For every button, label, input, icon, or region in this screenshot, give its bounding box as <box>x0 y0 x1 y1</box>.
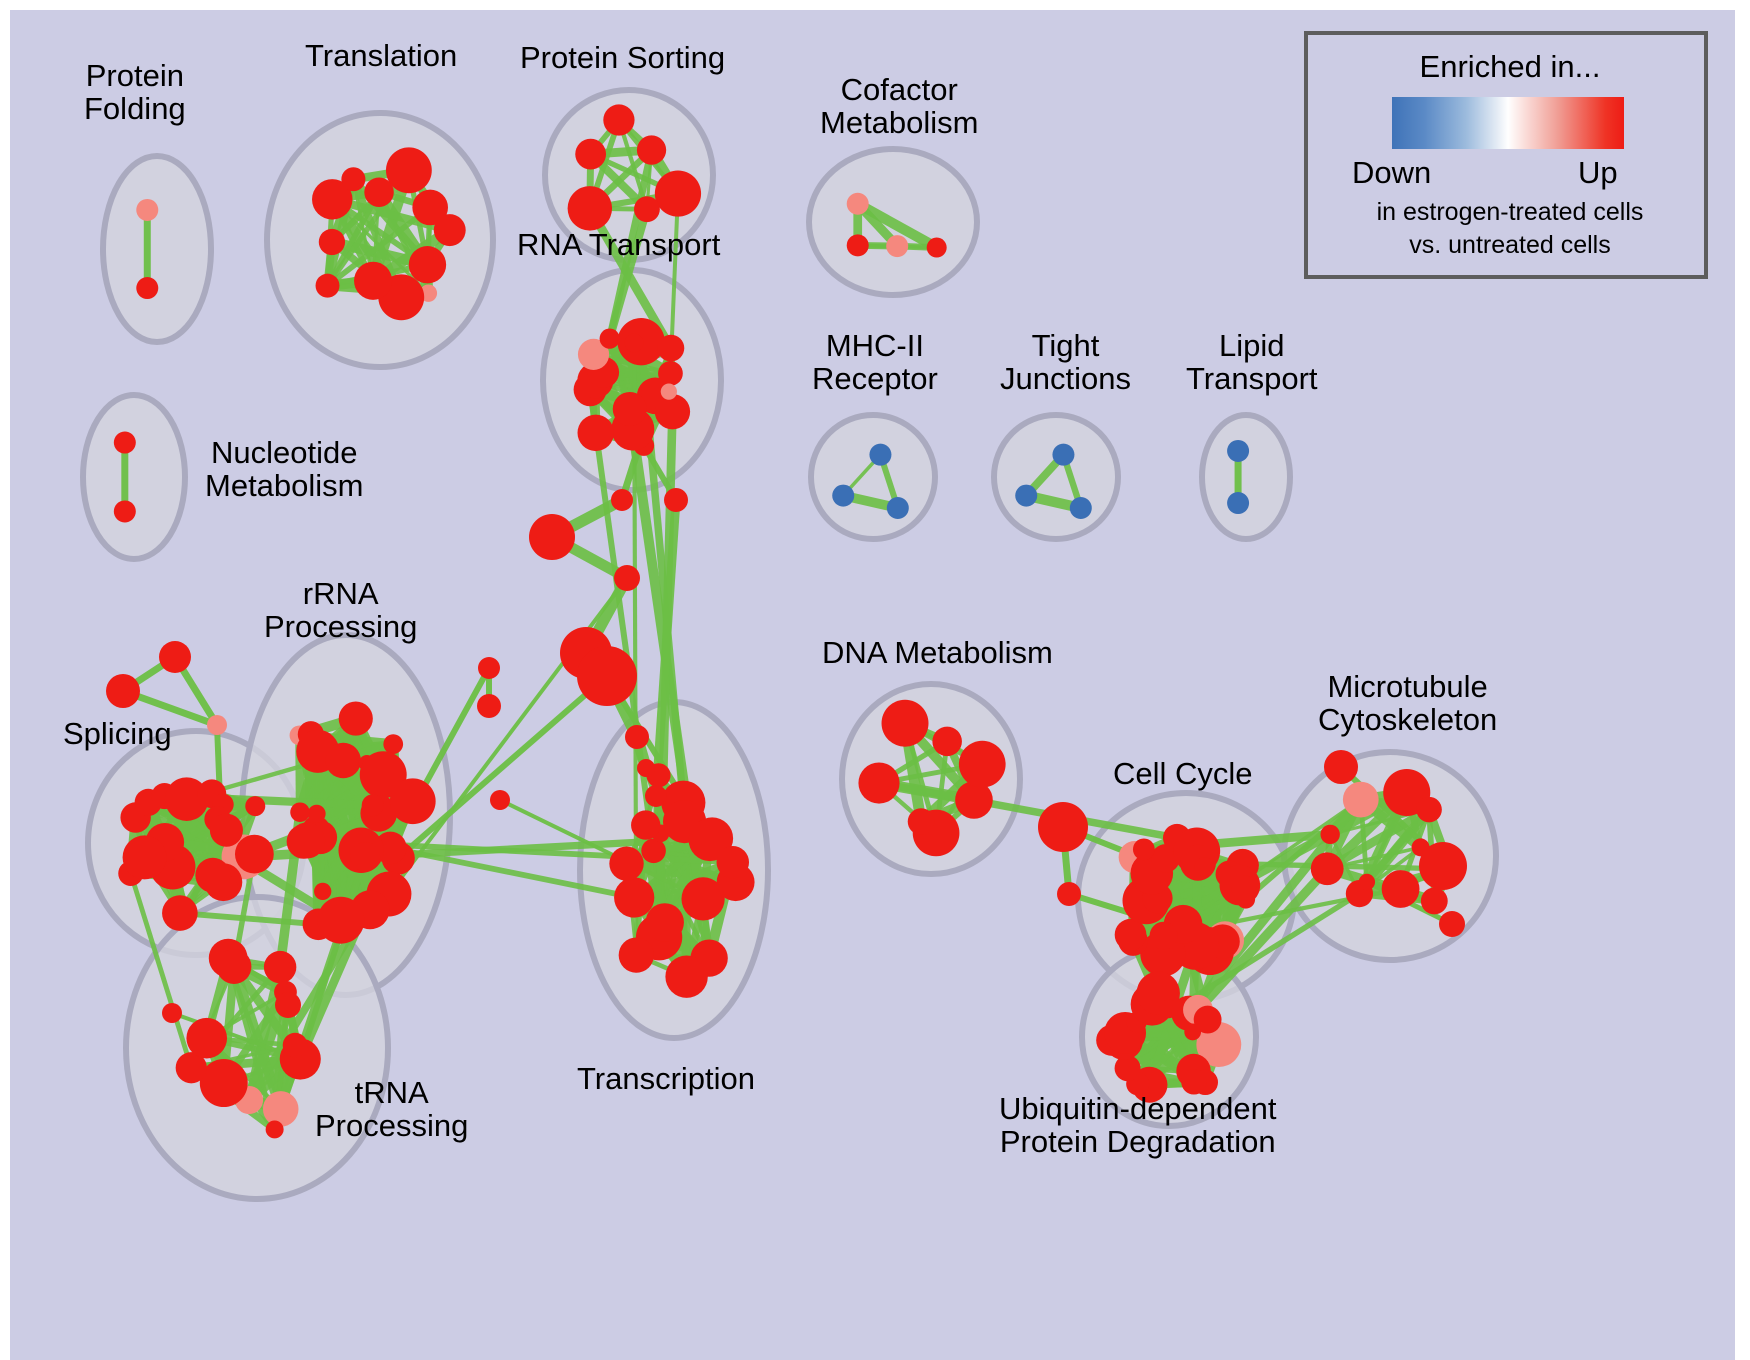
network-node <box>386 147 432 193</box>
cluster-label-translation: Translation <box>305 40 457 73</box>
network-node <box>289 822 325 858</box>
network-node <box>646 903 684 941</box>
network-node <box>578 415 614 451</box>
cluster-label-splicing: Splicing <box>63 718 172 751</box>
network-node <box>619 937 654 972</box>
network-node <box>207 715 227 735</box>
network-node <box>266 1120 284 1138</box>
network-node <box>1343 782 1379 818</box>
legend-title: Enriched in... <box>1308 49 1712 85</box>
network-node <box>717 846 749 878</box>
cluster-hull-nucleotide-metabolism <box>83 395 185 559</box>
network-node <box>1227 492 1249 514</box>
network-node <box>1359 874 1375 890</box>
network-node <box>887 497 909 519</box>
network-node <box>290 802 310 822</box>
cluster-label-protein-folding: Protein Folding <box>84 60 186 126</box>
network-node <box>959 741 1006 788</box>
network-node <box>478 657 500 679</box>
network-node <box>490 790 510 810</box>
network-node <box>655 394 690 429</box>
network-node <box>1133 838 1155 860</box>
legend-subtitle-line1: in estrogen-treated cells <box>1308 198 1712 227</box>
network-node <box>600 329 620 349</box>
network-node <box>886 235 908 257</box>
network-node <box>434 214 466 246</box>
network-node <box>195 858 230 893</box>
network-node <box>186 1018 227 1059</box>
network-node <box>1324 750 1358 784</box>
network-node <box>665 955 707 997</box>
network-node <box>1195 857 1214 876</box>
cluster-label-cell-cycle: Cell Cycle <box>1113 758 1253 791</box>
network-node <box>314 883 331 900</box>
network-node <box>634 196 660 222</box>
network-node <box>1227 440 1249 462</box>
cluster-hull-mhc-ii-receptor <box>811 415 935 539</box>
network-node <box>316 274 340 298</box>
network-node <box>409 246 446 283</box>
network-node <box>625 725 649 749</box>
network-node <box>362 794 384 816</box>
network-node <box>614 565 640 591</box>
figure-canvas: Protein Folding Translation Protein Sort… <box>0 0 1750 1360</box>
cluster-label-rna-transport: RNA Transport <box>517 229 720 262</box>
network-node <box>1015 485 1037 507</box>
network-node <box>1057 882 1081 906</box>
network-node <box>308 805 326 823</box>
network-node <box>655 170 701 216</box>
cluster-label-transcription: Transcription <box>577 1063 755 1096</box>
network-node <box>1419 842 1467 890</box>
network-node <box>575 139 606 170</box>
network-node <box>611 489 633 511</box>
network-node <box>114 432 136 454</box>
network-node <box>847 193 869 215</box>
network-node <box>1416 797 1442 823</box>
cluster-label-rrna-processing: rRNA Processing <box>264 578 417 644</box>
cluster-label-cofactor-metabolism: Cofactor Metabolism <box>820 74 979 140</box>
network-node <box>317 897 364 944</box>
network-node <box>159 641 191 673</box>
network-node <box>325 743 360 778</box>
network-node <box>625 333 644 352</box>
network-node <box>1320 825 1339 844</box>
legend-color-gradient <box>1392 97 1624 149</box>
legend-subtitle-line2: vs. untreated cells <box>1308 231 1712 260</box>
network-node <box>1439 911 1465 937</box>
network-node <box>383 734 403 754</box>
network-node <box>631 810 660 839</box>
legend-box: Enriched in... Down Up in estrogen-treat… <box>1304 31 1708 279</box>
network-node <box>235 835 274 874</box>
network-node <box>1231 875 1257 901</box>
cluster-label-mhc-ii-receptor: MHC-II Receptor <box>812 330 938 396</box>
network-node <box>681 877 724 920</box>
network-node <box>882 700 929 747</box>
network-node <box>641 839 666 864</box>
cluster-label-dna-metabolism: DNA Metabolism <box>822 637 1053 670</box>
network-node <box>162 1003 182 1023</box>
network-node <box>577 646 637 706</box>
network-node <box>283 1033 308 1058</box>
cluster-label-ubiquitin-protein-degradation: Ubiquitin-dependent Protein Degradation <box>999 1093 1277 1159</box>
network-node <box>529 514 575 560</box>
network-node <box>1052 444 1074 466</box>
network-node <box>136 277 158 299</box>
network-node <box>162 895 198 931</box>
network-node <box>477 694 501 718</box>
network-node <box>114 500 136 522</box>
network-node <box>354 262 392 300</box>
network-node <box>664 488 688 512</box>
cluster-hull-lipid-transport <box>1202 415 1290 539</box>
network-node <box>637 759 655 777</box>
network-node <box>1421 888 1448 915</box>
network-node <box>847 234 869 256</box>
network-node <box>275 992 301 1018</box>
network-node <box>637 135 666 164</box>
network-node <box>210 814 243 847</box>
network-node <box>603 104 634 135</box>
network-node <box>1382 870 1420 908</box>
network-node <box>217 949 252 984</box>
network-node <box>106 674 140 708</box>
network-node <box>1184 1024 1201 1041</box>
network-node <box>609 846 643 880</box>
network-node <box>390 778 436 824</box>
network-node <box>1038 802 1088 852</box>
network-node <box>341 167 365 191</box>
network-node <box>869 444 891 466</box>
cluster-label-lipid-transport: Lipid Transport <box>1186 330 1318 396</box>
network-node <box>927 238 947 258</box>
cluster-hull-protein-folding <box>103 156 211 342</box>
network-node <box>614 877 654 917</box>
network-node <box>908 808 935 835</box>
network-node <box>858 762 899 803</box>
network-node <box>136 199 158 221</box>
cluster-hull-tight-junctions <box>994 415 1118 539</box>
legend-up-label: Up <box>1578 155 1618 191</box>
network-node <box>264 951 296 983</box>
cluster-label-tight-junctions: Tight Junctions <box>1000 330 1131 396</box>
network-node <box>1150 922 1178 950</box>
network-node <box>661 384 677 400</box>
network-node <box>832 485 854 507</box>
network-node <box>245 796 265 816</box>
legend-down-label: Down <box>1352 155 1431 191</box>
network-node <box>319 229 345 255</box>
network-node <box>1070 497 1092 519</box>
network-node <box>1311 852 1344 885</box>
cluster-label-microtubule-cytoskeleton: Microtubule Cytoskeleton <box>1318 671 1497 737</box>
network-node <box>123 835 167 879</box>
cluster-label-protein-sorting: Protein Sorting <box>520 42 725 75</box>
cluster-label-trna-processing: tRNA Processing <box>315 1077 468 1143</box>
network-node <box>658 335 685 362</box>
network-node <box>200 1059 248 1107</box>
network-node <box>645 785 667 807</box>
network-node <box>613 392 647 426</box>
network-node <box>568 186 612 230</box>
network-node <box>263 1091 299 1127</box>
network-node <box>658 361 683 386</box>
network-node <box>339 701 373 735</box>
network-node <box>932 727 962 757</box>
cluster-label-nucleotide-metabolism: Nucleotide Metabolism <box>205 437 364 503</box>
network-node <box>350 842 380 872</box>
